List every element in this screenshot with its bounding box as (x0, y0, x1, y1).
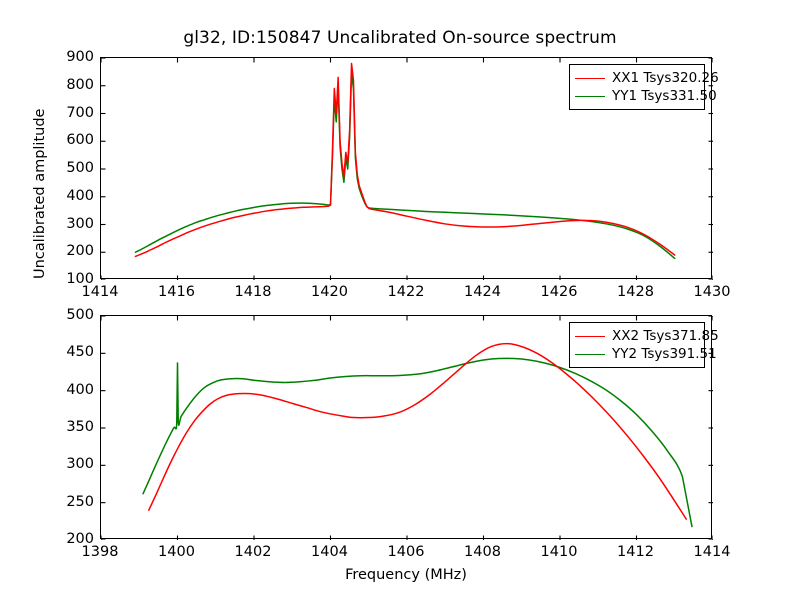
x-tick-label: 1428 (617, 284, 654, 300)
y-tick-label: 200 (38, 243, 94, 259)
x-tick-label: 1414 (694, 544, 731, 560)
y-tick-label: 400 (38, 188, 94, 204)
x-tick-label: 1416 (158, 284, 195, 300)
series-line (143, 358, 692, 526)
y-tick-label: 500 (38, 307, 94, 323)
y-tick-label: 700 (38, 105, 94, 121)
legend-item: YY2 Tsys391.51 (575, 345, 698, 363)
x-tick-label: 1410 (541, 544, 578, 560)
x-tick-label: 1422 (388, 284, 425, 300)
legend-line-swatch-xx2 (575, 336, 605, 337)
legend-line-swatch-xx1 (575, 78, 605, 79)
legend-label-yy1: YY1 Tsys331.50 (612, 88, 717, 104)
x-tick-label: 1406 (388, 544, 425, 560)
x-tick-label: 1414 (82, 284, 119, 300)
legend-label-xx2: XX2 Tsys371.85 (612, 328, 719, 344)
legend-line-swatch-yy2 (575, 354, 605, 355)
y-tick-label: 350 (38, 419, 94, 435)
x-tick-label: 1404 (311, 544, 348, 560)
series-line (149, 344, 686, 519)
page-title: gl32, ID:150847 Uncalibrated On-source s… (0, 28, 800, 48)
x-tick-label: 1430 (694, 284, 731, 300)
x-tick-label: 1398 (82, 544, 119, 560)
x-tick-label: 1400 (158, 544, 195, 560)
figure-canvas: gl32, ID:150847 Uncalibrated On-source s… (0, 0, 800, 600)
x-tick-label: 1408 (464, 544, 501, 560)
legend-item: YY1 Tsys331.50 (575, 87, 698, 105)
y-tick-label: 400 (38, 382, 94, 398)
y-tick-label: 800 (38, 77, 94, 93)
x-axis-label-bottom: Frequency (MHz) (100, 567, 712, 583)
y-tick-label: 600 (38, 132, 94, 148)
legend-item: XX2 Tsys371.85 (575, 327, 698, 345)
y-tick-label: 250 (38, 494, 94, 510)
y-tick-label: 450 (38, 344, 94, 360)
x-tick-label: 1402 (235, 544, 272, 560)
x-tick-label: 1420 (311, 284, 348, 300)
x-tick-label: 1426 (541, 284, 578, 300)
y-tick-label: 300 (38, 456, 94, 472)
legend-item: XX1 Tsys320.26 (575, 69, 698, 87)
legend-line-swatch-yy1 (575, 96, 605, 97)
y-tick-label: 300 (38, 216, 94, 232)
x-tick-label: 1412 (617, 544, 654, 560)
x-tick-label: 1424 (464, 284, 501, 300)
x-tick-label: 1418 (235, 284, 272, 300)
legend-bottom: XX2 Tsys371.85 YY2 Tsys391.51 (569, 322, 705, 368)
legend-label-yy2: YY2 Tsys391.51 (612, 346, 717, 362)
legend-top: XX1 Tsys320.26 YY1 Tsys331.50 (569, 64, 705, 110)
y-tick-label: 500 (38, 160, 94, 176)
y-tick-label: 900 (38, 49, 94, 65)
legend-label-xx1: XX1 Tsys320.26 (612, 70, 719, 86)
